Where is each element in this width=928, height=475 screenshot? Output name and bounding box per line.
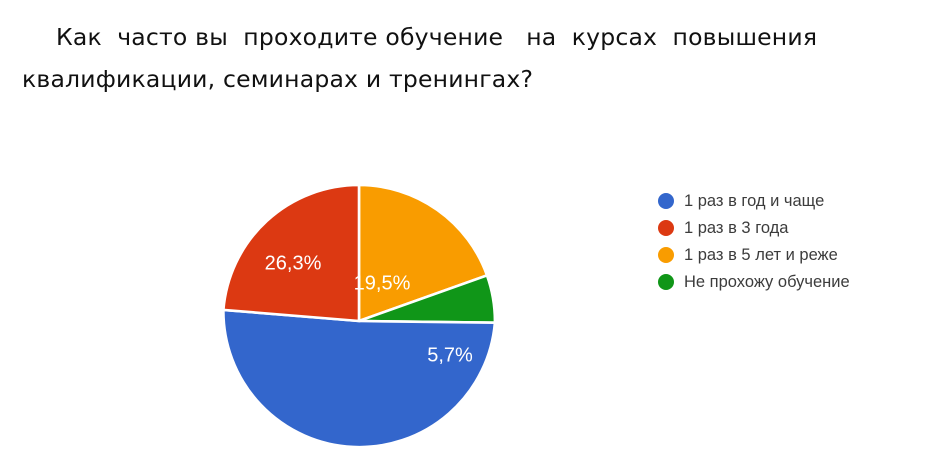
legend-circle-icon-1 bbox=[658, 220, 674, 236]
legend-label-1: 1 раз в 3 года bbox=[684, 219, 788, 238]
legend-item-2[interactable]: 1 раз в 5 лет и реже bbox=[658, 242, 918, 268]
pie-label-red: 26,3% bbox=[265, 252, 322, 274]
title-line-1: Как часто вы проходите обучение на курса… bbox=[22, 16, 842, 58]
pie-slice-blue[interactable] bbox=[223, 310, 495, 447]
legend-label-2: 1 раз в 5 лет и реже bbox=[684, 246, 838, 265]
page-title: Как часто вы проходите обучение на курса… bbox=[22, 16, 842, 100]
pie-svg: 19,5% 5,7% 48,5% 26,3% bbox=[222, 184, 496, 458]
legend-item-0[interactable]: 1 раз в год и чаще bbox=[658, 188, 918, 214]
chart-legend: 1 раз в год и чаще 1 раз в 3 года 1 раз … bbox=[658, 188, 918, 296]
legend-circle-icon-0 bbox=[658, 193, 674, 209]
slide-canvas: Как часто вы проходите обучение на курса… bbox=[0, 0, 928, 475]
pie-label-orange: 19,5% bbox=[354, 272, 411, 294]
legend-circle-icon-2 bbox=[658, 247, 674, 263]
legend-item-1[interactable]: 1 раз в 3 года bbox=[658, 215, 918, 241]
pie-chart: 19,5% 5,7% 48,5% 26,3% 1 раз в год и чащ… bbox=[0, 120, 928, 475]
legend-item-3[interactable]: Не прохожу обучение bbox=[658, 269, 918, 295]
pie-label-blue: 48,5% bbox=[325, 447, 382, 458]
legend-circle-icon-3 bbox=[658, 274, 674, 290]
pie-label-green: 5,7% bbox=[427, 344, 473, 366]
legend-label-0: 1 раз в год и чаще bbox=[684, 192, 824, 211]
pie-graphic: 19,5% 5,7% 48,5% 26,3% bbox=[222, 184, 496, 458]
title-line-2: квалификации, семинарах и тренингах? bbox=[22, 58, 842, 100]
legend-label-3: Не прохожу обучение bbox=[684, 273, 850, 292]
